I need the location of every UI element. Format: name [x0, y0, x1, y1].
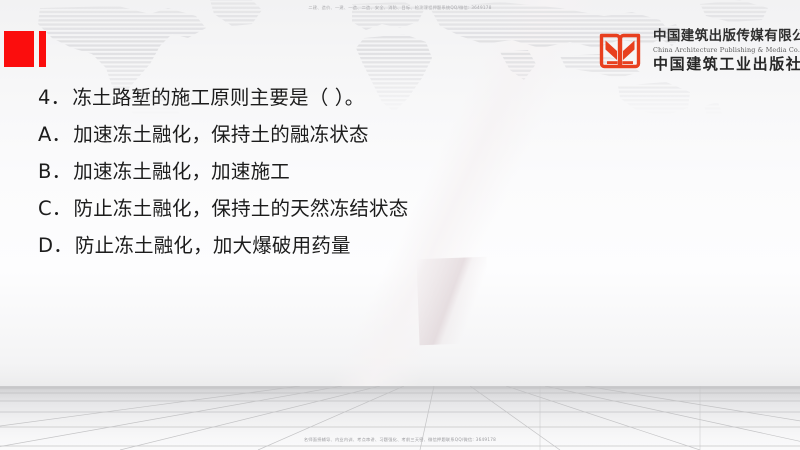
open-book-logo-icon: [596, 27, 644, 75]
option-a-label: A．: [38, 125, 71, 145]
publisher-logo: 中国建筑出版传媒有限公司 China Architecture Publishi…: [596, 27, 800, 75]
question-block: 4． 冻土路堑的施工原则主要是（ ）。 A． 加速冻土融化，保持土的融冻状态 B…: [38, 79, 738, 264]
option-c-label: C．: [38, 199, 72, 219]
logo-press-cn: 中国建筑工业出版社: [653, 57, 800, 72]
question-number: 4．: [38, 88, 70, 108]
accent-marker-group: [4, 31, 46, 67]
floor-grid: [0, 386, 800, 450]
question-stem-text: 冻土路堑的施工原则主要是（ ）。: [72, 88, 364, 108]
logo-company-en: China Architecture Publishing & Media Co…: [653, 47, 800, 53]
logo-company-cn: 中国建筑出版传媒有限公司: [653, 30, 800, 44]
option-a[interactable]: A． 加速冻土融化，保持土的融冻状态: [38, 116, 738, 153]
slide-canvas: 二建、造价、一建、一造、二造、安全、消防、目标、检测课程押题系统QQ/微信: 3…: [0, 0, 800, 450]
option-c-text: 防止冻土融化，保持土的天然冻结状态: [74, 199, 409, 219]
accent-marker-bar: [39, 31, 46, 67]
option-d-label: D．: [38, 236, 73, 256]
option-b-label: B．: [38, 162, 71, 182]
option-a-text: 加速冻土融化，保持土的融冻状态: [73, 125, 369, 145]
option-d[interactable]: D． 防止冻土融化，加大爆破用药量: [38, 227, 738, 264]
option-b-text: 加速冻土融化，加速施工: [73, 162, 290, 182]
option-c[interactable]: C． 防止冻土融化，保持土的天然冻结状态: [38, 190, 738, 227]
option-b[interactable]: B． 加速冻土融化，加速施工: [38, 153, 738, 190]
question-stem-line: 4． 冻土路堑的施工原则主要是（ ）。: [38, 79, 738, 116]
logo-text-group: 中国建筑出版传媒有限公司 China Architecture Publishi…: [653, 30, 800, 72]
option-d-text: 防止冻土融化，加大爆破用药量: [75, 236, 351, 256]
accent-marker-block: [4, 31, 34, 67]
